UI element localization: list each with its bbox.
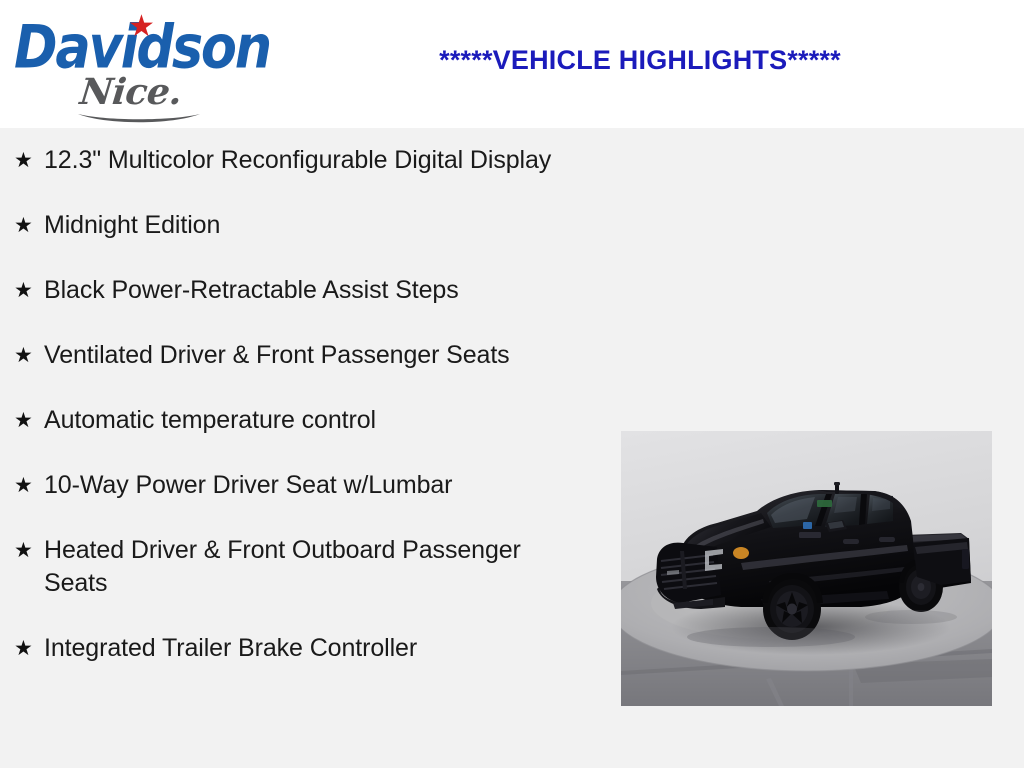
vehicle-highlights-list: ★ 12.3" Multicolor Reconfigurable Digita… <box>0 144 600 697</box>
page-title: *****VEHICLE HIGHLIGHTS***** <box>290 47 990 74</box>
star-bullet-icon: ★ <box>14 209 44 242</box>
highlight-text: Automatic temperature control <box>44 404 564 437</box>
list-item: ★ 10-Way Power Driver Seat w/Lumbar <box>0 469 600 502</box>
slide-body: ★ 12.3" Multicolor Reconfigurable Digita… <box>0 128 1024 768</box>
highlight-text: Integrated Trailer Brake Controller <box>44 632 564 665</box>
star-bullet-icon: ★ <box>14 144 44 177</box>
star-bullet-icon: ★ <box>14 404 44 437</box>
page-header: Davidson ★ Nice. *****VEHICLE HIGHLIGHTS… <box>0 0 1024 128</box>
list-item: ★ Ventilated Driver & Front Passenger Se… <box>0 339 600 372</box>
highlight-text: 12.3" Multicolor Reconfigurable Digital … <box>44 144 564 177</box>
list-item: ★ Midnight Edition <box>0 209 600 242</box>
logo-swoosh-icon <box>76 112 202 126</box>
highlight-text: Heated Driver & Front Outboard Passenger… <box>44 534 564 600</box>
list-item: ★ Integrated Trailer Brake Controller <box>0 632 600 665</box>
list-item: ★ Automatic temperature control <box>0 404 600 437</box>
star-bullet-icon: ★ <box>14 469 44 502</box>
list-item: ★ Heated Driver & Front Outboard Passeng… <box>0 534 600 600</box>
vehicle-photo-graphic <box>621 431 992 706</box>
vehicle-photo <box>621 431 992 706</box>
highlight-text: Black Power-Retractable Assist Steps <box>44 274 564 307</box>
logo-script-text: Nice. <box>78 74 183 110</box>
star-bullet-icon: ★ <box>14 534 44 567</box>
vehicle-highlights-slide: Davidson ★ Nice. *****VEHICLE HIGHLIGHTS… <box>0 0 1024 768</box>
star-bullet-icon: ★ <box>14 339 44 372</box>
highlight-text: 10-Way Power Driver Seat w/Lumbar <box>44 469 564 502</box>
highlight-text: Ventilated Driver & Front Passenger Seat… <box>44 339 564 372</box>
dealer-logo[interactable]: Davidson ★ Nice. <box>10 8 270 120</box>
list-item: ★ Black Power-Retractable Assist Steps <box>0 274 600 307</box>
red-star-icon: ★ <box>128 14 154 40</box>
list-item: ★ 12.3" Multicolor Reconfigurable Digita… <box>0 144 600 177</box>
star-bullet-icon: ★ <box>14 632 44 665</box>
star-bullet-icon: ★ <box>14 274 44 307</box>
highlight-text: Midnight Edition <box>44 209 564 242</box>
